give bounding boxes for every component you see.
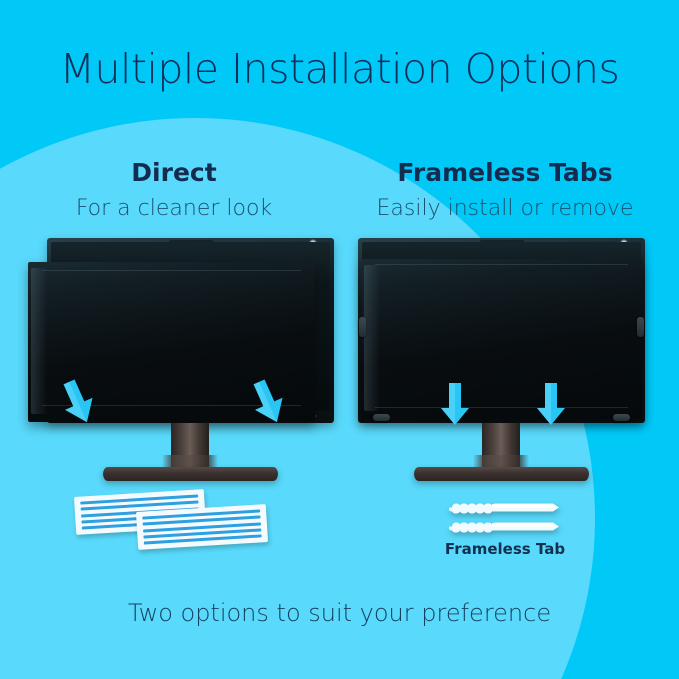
frameless-tab-caption: Frameless Tab (398, 540, 612, 558)
monitor-stand-base (103, 467, 278, 481)
panel-sheen (364, 265, 380, 411)
frameless-tab-piece (449, 519, 561, 534)
monitor-stand-base (414, 467, 589, 481)
product-infographic: Multiple Installation Options Direct For… (0, 0, 679, 679)
panel-edge-line (42, 270, 300, 271)
frameless-tab-clip (637, 317, 644, 337)
panel-edge-line (375, 264, 628, 265)
page-title: Multiple Installation Options (0, 45, 679, 93)
frameless-tab-clip (613, 414, 630, 421)
frameless-tab-clip (359, 317, 366, 337)
privacy-filter-panel (361, 259, 642, 419)
frameless-tab-piece (449, 500, 561, 515)
column-subheading-direct: For a cleaner look (24, 196, 324, 221)
install-arrow-icon (439, 382, 471, 430)
adhesive-strip (136, 504, 268, 550)
install-arrow-icon (246, 378, 290, 430)
column-heading-direct: Direct (34, 158, 314, 187)
footer-note: Two options to suit your preference (0, 599, 679, 627)
column-heading-frameless: Frameless Tabs (365, 158, 645, 187)
install-arrow-icon (56, 378, 100, 430)
panel-sheen (31, 268, 47, 414)
install-arrow-icon (535, 382, 567, 430)
panel-edge-line (375, 407, 628, 408)
monitor-stand-neck (171, 423, 209, 471)
monitor-stand-neck (482, 423, 520, 471)
column-subheading-frameless: Easily install or remove (355, 196, 655, 221)
frameless-tab-clip (373, 414, 390, 421)
